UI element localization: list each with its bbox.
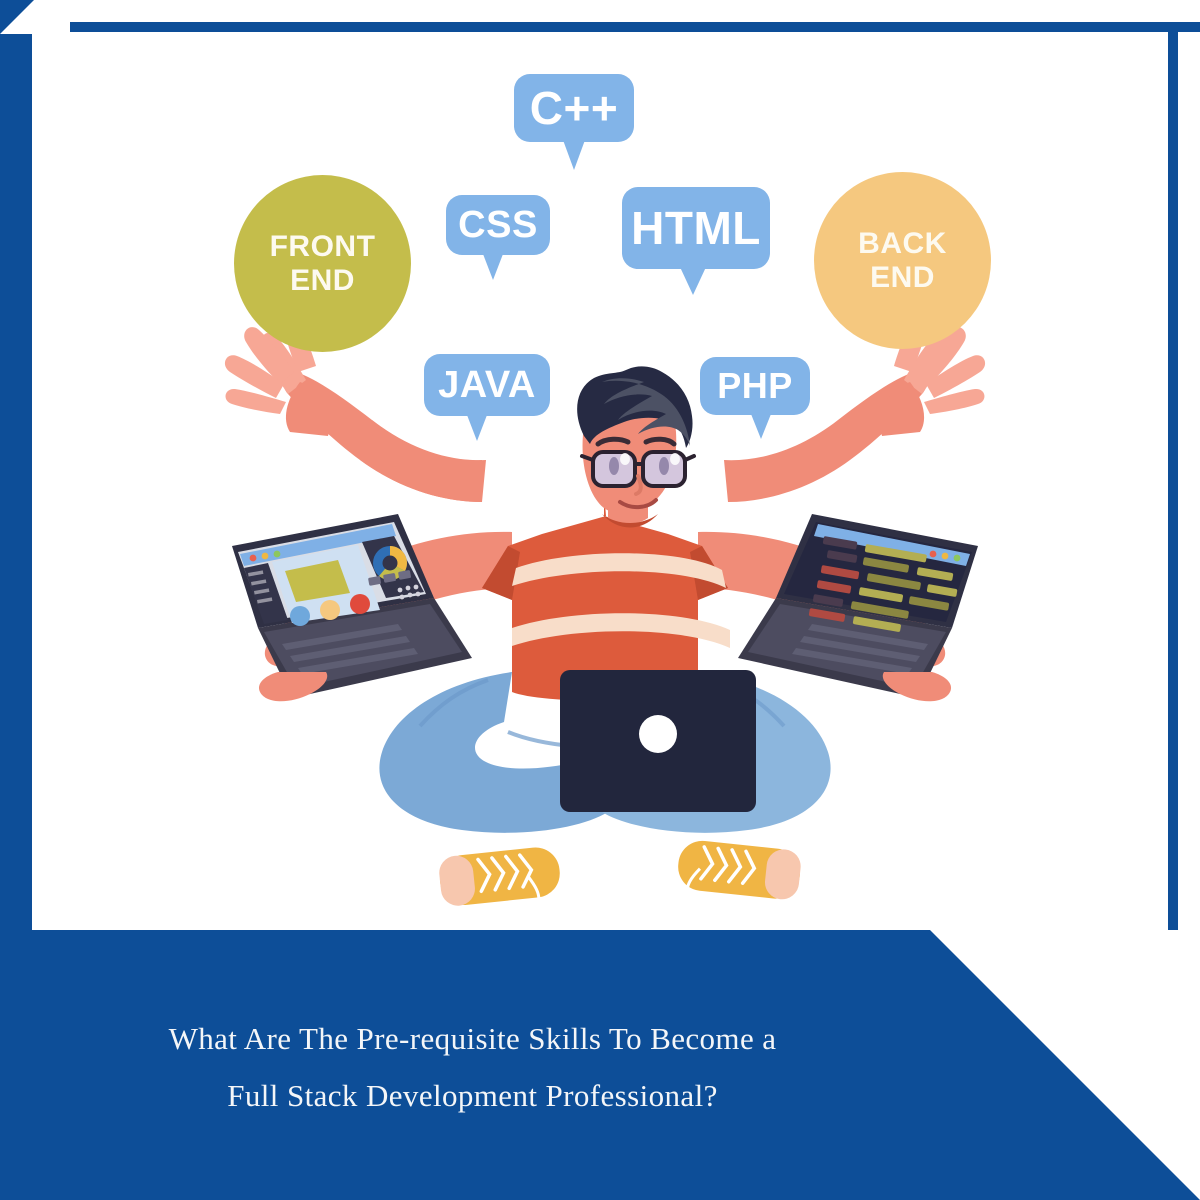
back-end-badge-line1: BACK xyxy=(858,227,947,261)
front-end-badge-line1: FRONT xyxy=(270,230,376,264)
bubble-php: PHP xyxy=(700,357,810,415)
poster-canvas: FRONT END BACK END C++ CSS HTML JAVA PHP… xyxy=(0,0,1200,1200)
frame-right-bar xyxy=(1168,22,1178,952)
bubble-cpp: C++ xyxy=(514,74,634,142)
head xyxy=(577,366,694,514)
bubble-css: CSS xyxy=(446,195,550,255)
developer-illustration xyxy=(42,32,1168,930)
back-end-badge-line2: END xyxy=(870,261,935,295)
bubble-html: HTML xyxy=(622,187,770,269)
poster-title-line2: Full Stack Development Professional? xyxy=(0,1067,945,1124)
poster-title-line1: What Are The Pre-requisite Skills To Bec… xyxy=(169,1021,777,1056)
bubble-java: JAVA xyxy=(424,354,550,416)
front-end-badge: FRONT END xyxy=(234,175,411,352)
frame-top-bar xyxy=(0,22,1200,32)
center-laptop xyxy=(560,670,756,812)
corner-notch-decoration xyxy=(0,0,70,34)
poster-title: What Are The Pre-requisite Skills To Bec… xyxy=(0,1010,945,1125)
back-end-badge: BACK END xyxy=(814,172,991,349)
front-end-badge-line2: END xyxy=(290,264,355,298)
illustration-card: FRONT END BACK END C++ CSS HTML JAVA PHP xyxy=(42,32,1168,930)
shoes xyxy=(438,838,803,911)
